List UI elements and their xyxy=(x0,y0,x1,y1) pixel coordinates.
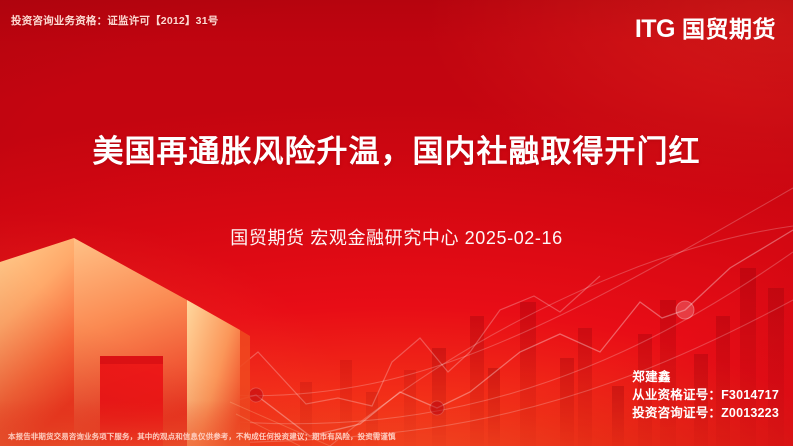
author-consulting-license: 投资咨询证号：Z0013223 xyxy=(632,404,779,422)
author-practice-license: 从业资格证号：F3014717 xyxy=(632,386,779,404)
author-name: 郑建鑫 xyxy=(632,368,779,386)
page-subtitle: 国贸期货 宏观金融研究中心 2025-02-16 xyxy=(0,224,793,250)
footer-disclaimer: 本报告非期货交易咨询业务项下服务，其中的观点和信息仅供参考，不构成任何投资建议；… xyxy=(8,431,396,442)
qualification-notice: 投资咨询业务资格：证监许可【2012】31号 xyxy=(11,13,218,28)
itg-logo-mark: ITG xyxy=(635,17,675,42)
report-cover-slide: 投资咨询业务资格：证监许可【2012】31号 ITG 国贸期货 美国再通胀风险升… xyxy=(0,0,793,446)
itg-logo[interactable]: ITG 国贸期货 xyxy=(635,17,776,42)
author-block: 郑建鑫 从业资格证号：F3014717 投资咨询证号：Z0013223 xyxy=(632,368,779,422)
itg-logo-wordmark: 国贸期货 xyxy=(682,18,776,41)
page-title: 美国再通胀风险升温，国内社融取得开门红 xyxy=(0,133,793,172)
